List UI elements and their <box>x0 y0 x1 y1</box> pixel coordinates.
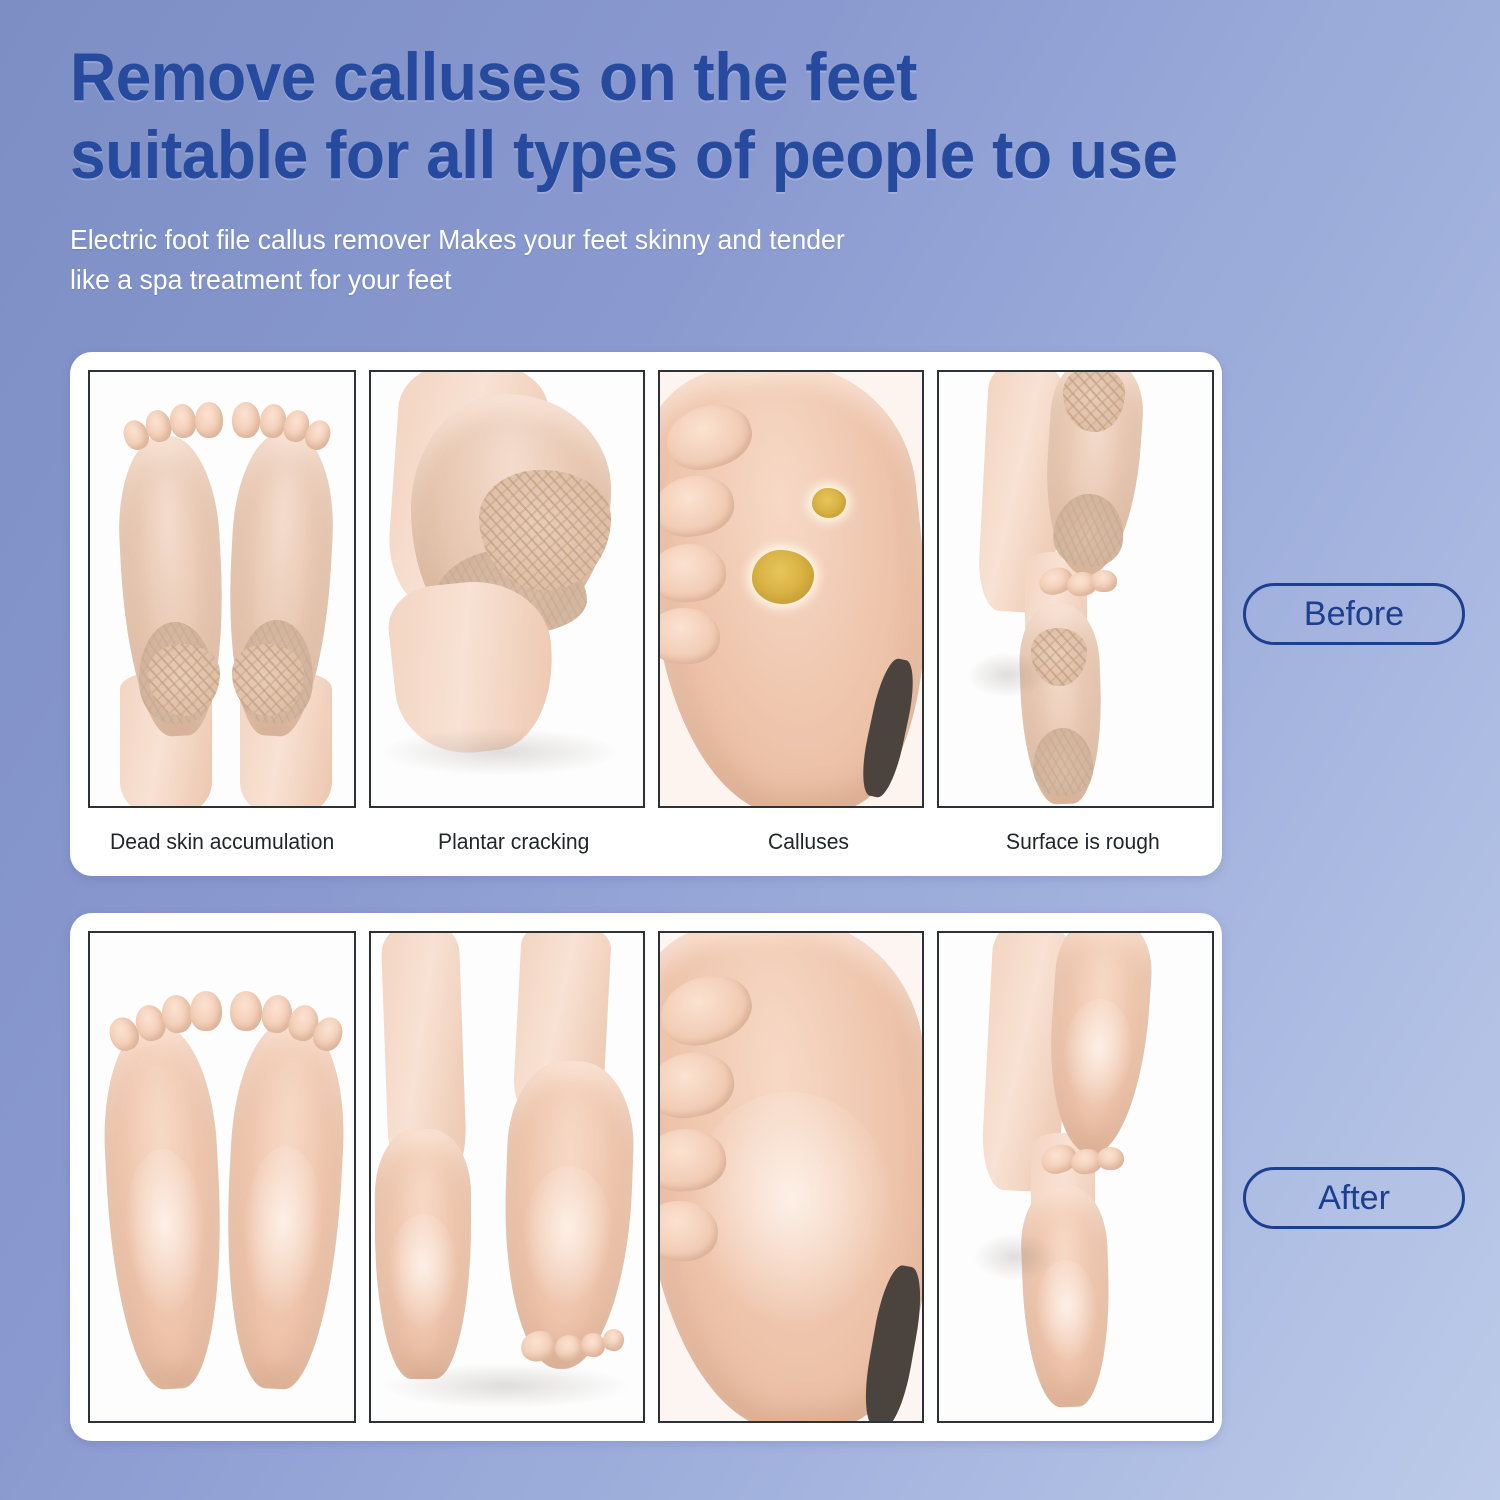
header-block: Remove calluses on the feet suitable for… <box>70 38 1460 300</box>
before-captions: Dead skin accumulation Plantar cracking … <box>88 822 1204 862</box>
before-photo-2[interactable] <box>369 370 645 808</box>
after-photo-4[interactable] <box>937 931 1214 1423</box>
before-photo-strip <box>88 370 1214 808</box>
badge-after[interactable]: After <box>1243 1167 1465 1229</box>
after-photo-1[interactable] <box>88 931 356 1423</box>
caption-rough: Surface is rough <box>1006 822 1160 862</box>
page-title: Remove calluses on the feet suitable for… <box>70 38 1377 194</box>
after-card <box>70 913 1222 1441</box>
badge-before[interactable]: Before <box>1243 583 1465 645</box>
caption-dead-skin: Dead skin accumulation <box>110 822 334 862</box>
before-card: Dead skin accumulation Plantar cracking … <box>70 352 1222 876</box>
caption-calluses: Calluses <box>768 822 849 862</box>
before-photo-3[interactable] <box>658 370 924 808</box>
after-photo-2[interactable] <box>369 931 645 1423</box>
page-subtitle: Electric foot file callus remover Makes … <box>70 220 1391 300</box>
after-photo-strip <box>88 931 1214 1423</box>
before-photo-4[interactable] <box>937 370 1214 808</box>
before-photo-1[interactable] <box>88 370 356 808</box>
caption-plantar: Plantar cracking <box>438 822 589 862</box>
after-photo-3[interactable] <box>658 931 924 1423</box>
